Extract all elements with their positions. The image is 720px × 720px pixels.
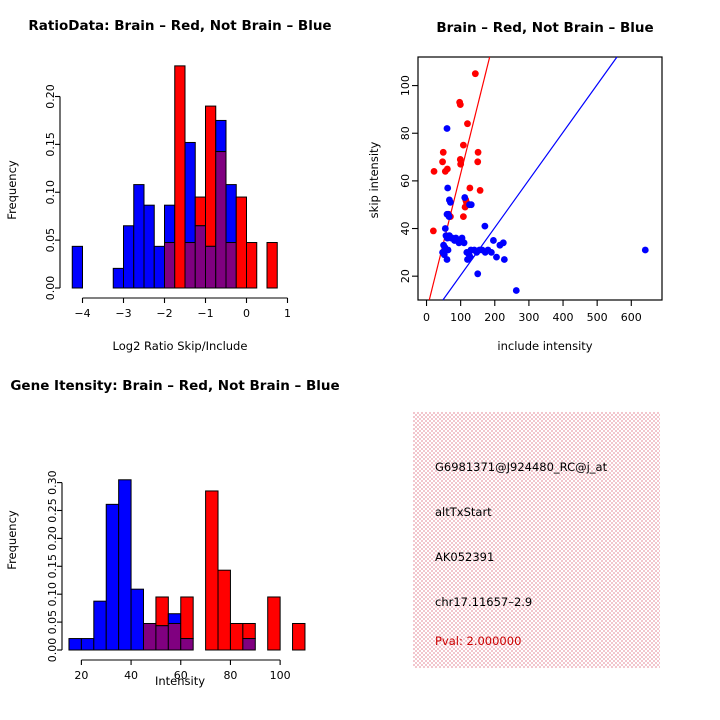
scatter-x-tick-label: 400 bbox=[553, 311, 574, 324]
histogram-bar-overlap bbox=[243, 639, 255, 650]
histogram-bar bbox=[181, 597, 193, 639]
panel-ratio-histogram: RatioData: Brain – Red, Not Brain – Blue… bbox=[0, 0, 360, 360]
scatter-y-tick-label: 100 bbox=[399, 75, 412, 96]
gene_hist-y-tick-label: 0.10 bbox=[46, 582, 59, 607]
scatter-point bbox=[474, 270, 481, 277]
probe-id-text: G6981371@J924480_RC@j_at bbox=[435, 460, 607, 474]
ratio_hist-x-tick-label: 0 bbox=[243, 307, 250, 320]
locus-text: chr17.11657–2.9 bbox=[435, 595, 532, 609]
ratio_hist-x-tick-label: −1 bbox=[197, 307, 213, 320]
ratio-histogram-yaxis: 0.000.050.100.150.20 bbox=[44, 84, 60, 300]
histogram-bar bbox=[131, 589, 143, 650]
histogram-bar bbox=[134, 185, 144, 288]
gene_hist-y-tick-label: 0.00 bbox=[46, 638, 59, 663]
scatter-point bbox=[466, 185, 473, 192]
scatter-point bbox=[442, 225, 449, 232]
gene_hist-y-tick-label: 0.15 bbox=[46, 554, 59, 579]
scatter-point bbox=[431, 168, 438, 175]
scatter-point bbox=[481, 223, 488, 230]
scatter-point bbox=[467, 254, 474, 261]
gene_hist-y-tick-label: 0.05 bbox=[46, 610, 59, 635]
scatter-y-tick-label: 80 bbox=[399, 126, 412, 140]
scatter-x-tick-label: 300 bbox=[518, 311, 539, 324]
histogram-bar bbox=[230, 623, 242, 650]
histogram-bar bbox=[226, 185, 236, 243]
histogram-bar-overlap bbox=[165, 243, 175, 288]
gene-histogram-title: Gene Itensity: Brain – Red, Not Brain – … bbox=[10, 378, 339, 394]
histogram-bar bbox=[216, 120, 226, 151]
scatter-x-tick-label: 500 bbox=[587, 311, 608, 324]
scatter-point bbox=[457, 161, 464, 168]
scatter-point bbox=[444, 125, 451, 132]
gene_hist-x-tick-label: 40 bbox=[124, 669, 138, 682]
histogram-bar-overlap bbox=[181, 639, 193, 650]
histogram-bar bbox=[168, 614, 180, 624]
scatter-point bbox=[477, 187, 484, 194]
scatter-point bbox=[461, 194, 468, 201]
scatter-point bbox=[439, 158, 446, 165]
ratio_hist-x-tick-label: −4 bbox=[74, 307, 90, 320]
histogram-bar bbox=[175, 66, 185, 288]
ratio-histogram-xlabel: Log2 Ratio Skip/Include bbox=[113, 339, 248, 353]
scatter-point bbox=[474, 158, 481, 165]
panel-intensity-scatter: Brain – Red, Not Brain – Blue include in… bbox=[360, 0, 720, 360]
trend-line-not-brain-fit bbox=[443, 57, 617, 300]
ratio_hist-y-tick-label: 0.00 bbox=[44, 276, 57, 301]
histogram-bar bbox=[156, 597, 168, 626]
plot-border bbox=[418, 57, 662, 300]
scatter-point bbox=[447, 199, 454, 206]
histogram-bar bbox=[247, 243, 257, 288]
scatter-y-tick-label: 60 bbox=[399, 174, 412, 188]
scatter-point bbox=[430, 228, 437, 235]
histogram-bar bbox=[267, 243, 277, 288]
ratio_hist-x-tick-label: −2 bbox=[156, 307, 172, 320]
gene-histogram-svg: Gene Itensity: Brain – Red, Not Brain – … bbox=[0, 360, 360, 720]
histogram-bar bbox=[293, 623, 305, 650]
ratio-histogram-svg: RatioData: Brain – Red, Not Brain – Blue… bbox=[0, 0, 360, 360]
scatter-points bbox=[430, 70, 649, 294]
gene-histogram-xaxis: 20406080100 bbox=[74, 660, 290, 682]
scatter-point bbox=[472, 70, 479, 77]
scatter-point bbox=[461, 239, 468, 246]
histogram-bar bbox=[81, 639, 93, 650]
scatter-title: Brain – Red, Not Brain – Blue bbox=[436, 20, 653, 36]
scatter-point bbox=[460, 213, 467, 220]
histogram-bar bbox=[206, 491, 218, 650]
histogram-bar bbox=[119, 480, 131, 650]
scatter-xlabel: include intensity bbox=[497, 339, 592, 353]
histogram-bar bbox=[185, 142, 195, 242]
gene-histogram-yaxis: 0.000.050.100.150.200.250.30 bbox=[46, 470, 62, 662]
gene-histogram-ylabel: Frequency bbox=[5, 510, 19, 570]
scatter-point bbox=[488, 249, 495, 256]
accession-text: AK052391 bbox=[435, 550, 494, 564]
histogram-bar bbox=[243, 623, 255, 638]
gene_hist-y-tick-label: 0.30 bbox=[46, 470, 59, 495]
ratio_hist-x-tick-label: −3 bbox=[115, 307, 131, 320]
figure-canvas: RatioData: Brain – Red, Not Brain – Blue… bbox=[0, 0, 720, 720]
histogram-bar bbox=[113, 268, 123, 288]
scatter-x-tick-label: 0 bbox=[423, 311, 430, 324]
histogram-bar-overlap bbox=[195, 226, 205, 288]
gene_hist-x-tick-label: 100 bbox=[270, 669, 291, 682]
ratio-histogram-ylabel: Frequency bbox=[5, 160, 19, 220]
histogram-bar bbox=[144, 205, 154, 288]
histogram-bar bbox=[195, 197, 205, 226]
gene-histogram-bars bbox=[69, 480, 305, 650]
pval-text: Pval: 2.000000 bbox=[435, 634, 521, 648]
gene_hist-x-tick-label: 60 bbox=[174, 669, 188, 682]
histogram-bar bbox=[94, 601, 106, 650]
histogram-bar-overlap bbox=[156, 626, 168, 650]
scatter-point bbox=[444, 256, 451, 263]
scatter-x-tick-label: 100 bbox=[450, 311, 471, 324]
scatter-point bbox=[475, 149, 482, 156]
ratio-histogram-bars bbox=[72, 66, 277, 288]
scatter-point bbox=[642, 247, 649, 254]
histogram-bar bbox=[154, 246, 164, 288]
scatter-x-tick-label: 200 bbox=[484, 311, 505, 324]
histogram-bar bbox=[206, 106, 216, 246]
ratio-histogram-xaxis: −4−3−2−101 bbox=[74, 298, 291, 320]
scatter-point bbox=[440, 149, 447, 156]
histogram-bar bbox=[72, 246, 82, 288]
histogram-bar bbox=[236, 197, 246, 288]
ratio-histogram-title: RatioData: Brain – Red, Not Brain – Blue bbox=[28, 18, 331, 34]
histogram-bar-overlap bbox=[185, 243, 195, 288]
scatter-point bbox=[464, 120, 471, 127]
ratio_hist-y-tick-label: 0.20 bbox=[44, 84, 57, 109]
histogram-bar bbox=[124, 226, 134, 288]
ratio_hist-y-tick-label: 0.10 bbox=[44, 180, 57, 205]
ratio_hist-y-tick-label: 0.15 bbox=[44, 132, 57, 157]
scatter-point bbox=[442, 168, 449, 175]
scatter-point bbox=[468, 201, 475, 208]
scatter-point bbox=[497, 242, 504, 249]
scatter-plot-box bbox=[418, 57, 662, 300]
gene_hist-x-tick-label: 20 bbox=[74, 669, 88, 682]
scatter-point bbox=[493, 254, 500, 261]
histogram-bar bbox=[218, 570, 230, 650]
gene_hist-x-tick-label: 80 bbox=[223, 669, 237, 682]
histogram-bar-overlap bbox=[226, 243, 236, 288]
event-type-text: altTxStart bbox=[435, 505, 492, 519]
scatter-point bbox=[501, 256, 508, 263]
trend-line-brain-fit bbox=[429, 57, 489, 300]
scatter-point bbox=[457, 101, 464, 108]
histogram-bar-overlap bbox=[206, 246, 216, 288]
panel-gene-histogram: Gene Itensity: Brain – Red, Not Brain – … bbox=[0, 360, 360, 720]
gene_hist-y-tick-label: 0.20 bbox=[46, 526, 59, 551]
scatter-trend-lines bbox=[429, 57, 617, 300]
ratio_hist-x-tick-label: 1 bbox=[284, 307, 291, 320]
scatter-point bbox=[460, 142, 467, 149]
scatter-y-tick-label: 40 bbox=[399, 222, 412, 236]
probe-info-panel: G6981371@J924480_RC@j_at altTxStart AK05… bbox=[413, 412, 660, 668]
scatter-point bbox=[490, 237, 497, 244]
gene_hist-y-tick-label: 0.25 bbox=[46, 498, 59, 523]
scatter-point bbox=[446, 213, 453, 220]
ratio_hist-y-tick-label: 0.05 bbox=[44, 228, 57, 253]
histogram-bar bbox=[268, 597, 280, 650]
scatter-xaxis: 0100200300400500600 bbox=[423, 300, 642, 324]
scatter-yaxis: 20406080100 bbox=[399, 75, 418, 283]
histogram-bar-overlap bbox=[216, 152, 226, 288]
histogram-bar-overlap bbox=[168, 623, 180, 650]
scatter-point bbox=[444, 185, 451, 192]
scatter-svg: Brain – Red, Not Brain – Blue include in… bbox=[360, 0, 720, 360]
scatter-ylabel: skip intensity bbox=[367, 141, 381, 218]
histogram-bar bbox=[69, 639, 81, 650]
histogram-bar bbox=[106, 504, 118, 650]
histogram-bar-overlap bbox=[143, 623, 155, 650]
scatter-y-tick-label: 20 bbox=[399, 269, 412, 283]
histogram-bar bbox=[165, 205, 175, 242]
scatter-point bbox=[513, 287, 520, 294]
scatter-x-tick-label: 600 bbox=[621, 311, 642, 324]
